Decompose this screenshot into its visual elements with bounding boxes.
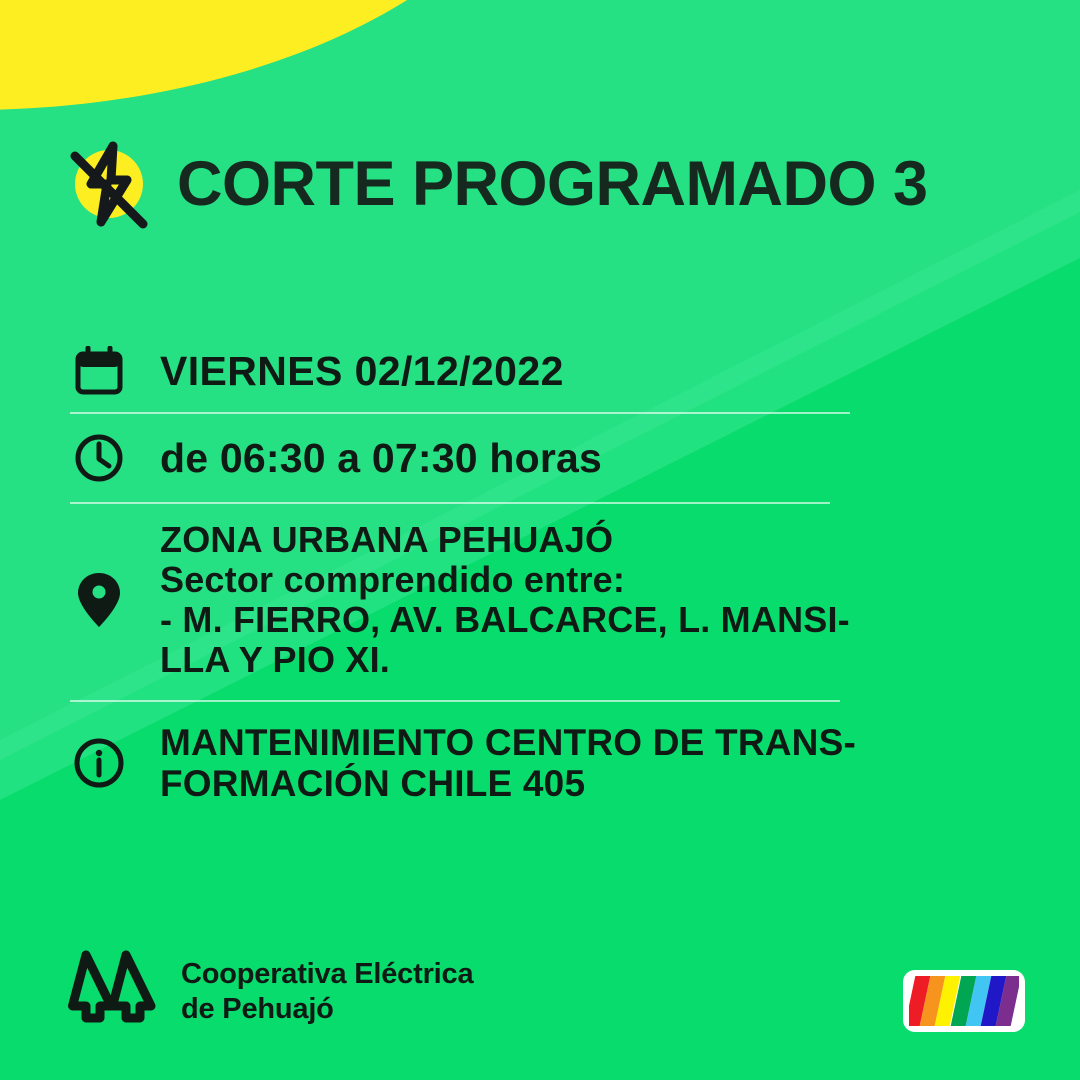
detail-row-reason: MANTENIMIENTO CENTRO DE TRANS- FORMACIÓN… (0, 702, 1080, 804)
calendar-icon (68, 346, 130, 396)
date-value: VIERNES 02/12/2022 (160, 351, 564, 392)
rainbow-stripes (909, 976, 1019, 1026)
clock-icon (68, 433, 130, 483)
detail-row-time: de 06:30 a 07:30 horas (0, 414, 1080, 502)
poster-content: CORTE PROGRAMADO 3 VIERNES 02/12/2022 (0, 0, 1080, 1080)
footer-org-name: Cooperativa Eléctrica de Pehuajó (181, 957, 473, 1027)
details-list: VIERNES 02/12/2022 de 06:30 a 07:30 hora… (0, 330, 1080, 804)
poster-header: CORTE PROGRAMADO 3 (63, 138, 928, 230)
location-line-1: ZONA URBANA PEHUAJÓ (160, 520, 850, 560)
page-title: CORTE PROGRAMADO 3 (177, 153, 928, 216)
map-pin-icon (68, 571, 130, 629)
location-line-3: - M. FIERRO, AV. BALCARCE, L. MANSI- (160, 600, 850, 640)
rainbow-badge (903, 970, 1025, 1032)
poster-footer: Cooperativa Eléctrica de Pehuajó (63, 948, 473, 1035)
reason-line-2: FORMACIÓN CHILE 405 (160, 763, 856, 804)
detail-row-date: VIERNES 02/12/2022 (0, 330, 1080, 412)
time-body: de 06:30 a 07:30 horas (130, 438, 602, 479)
location-line-4: LLA Y PIO XI. (160, 640, 850, 680)
location-line-2: Sector comprendido entre: (160, 560, 850, 600)
detail-row-location: ZONA URBANA PEHUAJÓ Sector comprendido e… (0, 504, 1080, 700)
location-body: ZONA URBANA PEHUAJÓ Sector comprendido e… (130, 520, 850, 680)
info-circle-icon (68, 737, 130, 789)
date-body: VIERNES 02/12/2022 (130, 351, 564, 392)
footer-name-line-1: Cooperativa Eléctrica (181, 957, 473, 992)
cooperativa-double-tree-logo (63, 948, 159, 1035)
time-value: de 06:30 a 07:30 horas (160, 438, 602, 479)
footer-name-line-2: de Pehuajó (181, 992, 473, 1027)
power-off-bolt-icon (63, 138, 155, 230)
reason-line-1: MANTENIMIENTO CENTRO DE TRANS- (160, 722, 856, 763)
reason-body: MANTENIMIENTO CENTRO DE TRANS- FORMACIÓN… (130, 722, 856, 804)
